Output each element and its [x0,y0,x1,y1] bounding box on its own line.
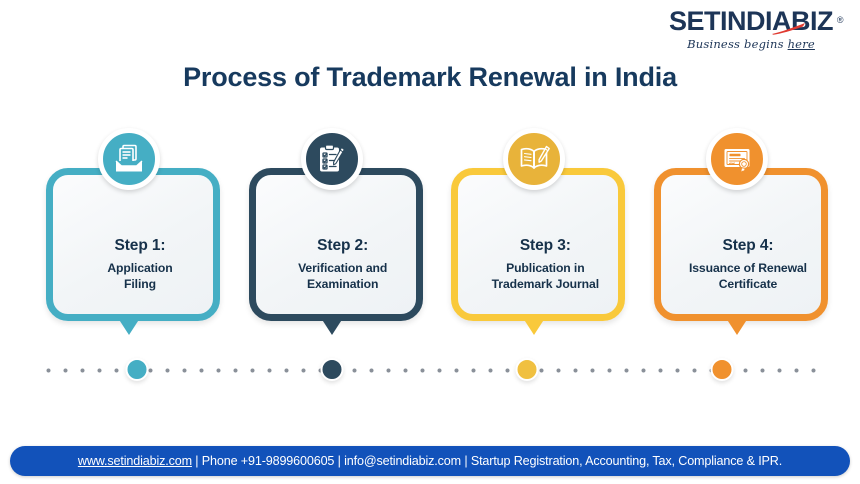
timeline-node-3 [516,358,539,381]
footer-phone: Phone +91-9899600605 [202,454,335,468]
step-card-4: Step 4: Issuance of Renewal Certificate [646,128,828,328]
step-label-3: Step 3: [464,237,626,255]
step-card-2: Step 2: Verification and Examination [241,128,423,328]
step-description-3: Publication in Trademark Journal [464,260,626,292]
step-description-line2-1: Filing [124,277,156,291]
step-description-4: Issuance of Renewal Certificate [667,260,829,292]
footer-separator-1: | [192,454,202,468]
timeline-node-1 [126,358,149,381]
timeline-dotted-line [40,368,822,373]
step-pointer-1 [118,318,140,335]
brand-logo: SETINDIABIZ ® Business begins here [656,6,846,54]
footer-email[interactable]: info@setindiabiz.com [344,454,461,468]
step-description-line1-3: Publication in [506,261,585,275]
clipboard-checklist-pen-icon [301,128,363,190]
step-card-body-2: Step 2: Verification and Examination [249,168,423,321]
logo-wordmark: SETINDIABIZ ® [669,6,833,36]
step-card-text-1: Step 1: Application Filing [53,237,227,292]
logo-tagline-underlined: here [788,37,815,51]
infographic-canvas: SETINDIABIZ ® Business begins here Proce… [0,0,860,484]
step-description-1: Application Filing [59,260,221,292]
step-description-line2-3: Trademark Journal [492,277,599,291]
logo-wordmark-text: SETINDIABIZ [669,6,833,36]
timeline-node-2 [321,358,344,381]
step-description-2: Verification and Examination [262,260,424,292]
documents-in-tray-icon [98,128,160,190]
step-card-text-3: Step 3: Publication in Trademark Journal [458,237,632,292]
footer-bar: www.setindiabiz.com | Phone +91-98996006… [10,446,850,476]
open-book-pen-icon [503,128,565,190]
certificate-seal-icon [706,128,768,190]
timeline-node-4 [711,358,734,381]
footer-website-link[interactable]: www.setindiabiz.com [78,454,192,468]
step-description-line1-2: Verification and [298,261,387,275]
page-title: Process of Trademark Renewal in India [0,62,860,93]
registered-trademark-icon: ® [837,5,843,35]
step-card-text-4: Step 4: Issuance of Renewal Certificate [661,237,835,292]
step-description-line2-2: Examination [307,277,378,291]
logo-tagline-pre: Business begins [687,37,787,51]
step-card-text-2: Step 2: Verification and Examination [256,237,430,292]
step-card-body-4: Step 4: Issuance of Renewal Certificate [654,168,828,321]
step-label-4: Step 4: [667,237,829,255]
footer-separator-3: | [461,454,471,468]
steps-container: Step 1: Application Filing [38,128,828,328]
timeline [40,358,822,384]
step-card-body-3: Step 3: Publication in Trademark Journal [451,168,625,321]
step-description-line1-1: Application [107,261,172,275]
footer-separator-2: | [334,454,344,468]
step-card-body-1: Step 1: Application Filing [46,168,220,321]
step-description-line2-4: Certificate [719,277,778,291]
step-card-3: Step 3: Publication in Trademark Journal [443,128,625,328]
step-label-2: Step 2: [262,237,424,255]
step-pointer-4 [726,318,748,335]
logo-tagline: Business begins here [656,37,846,51]
footer-services: Startup Registration, Accounting, Tax, C… [471,454,782,468]
step-description-line1-4: Issuance of Renewal [689,261,807,275]
footer-text: www.setindiabiz.com | Phone +91-98996006… [78,454,782,468]
step-card-1: Step 1: Application Filing [38,128,220,328]
step-pointer-2 [321,318,343,335]
step-pointer-3 [523,318,545,335]
step-label-1: Step 1: [59,237,221,255]
